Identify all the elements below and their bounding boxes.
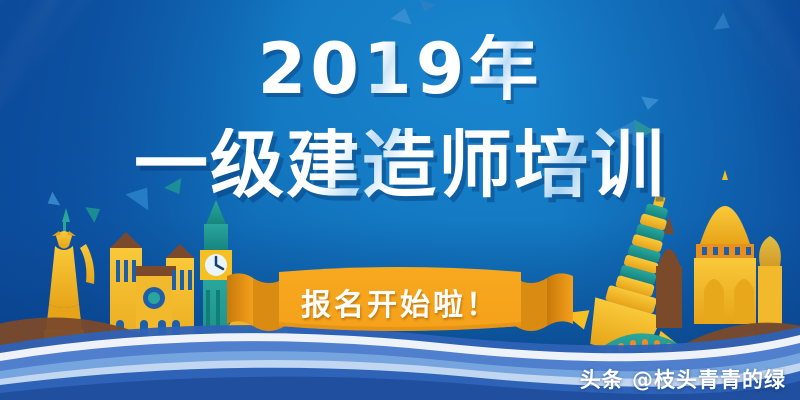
year-title: 2019年: [258, 34, 543, 104]
main-title-container: 一级建造师培训: [0, 128, 800, 202]
watermark: 头条 @枝头青青的绿: [580, 364, 786, 394]
enrollment-ribbon[interactable]: 报名开始啦！: [225, 262, 575, 338]
promo-banner: 2019年 一级建造师培训: [0, 0, 800, 400]
main-title: 一级建造师培训: [134, 128, 666, 202]
year-title-container: 2019年: [0, 34, 800, 104]
